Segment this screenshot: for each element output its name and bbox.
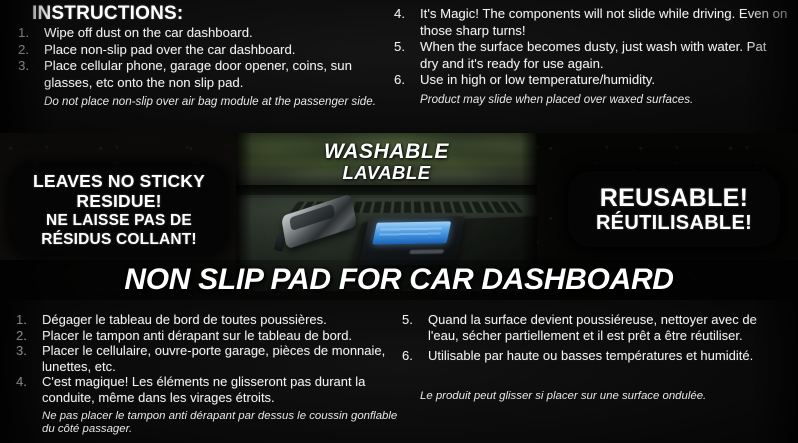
english-left-footnote: Do not place non-slip over air bag modul… xyxy=(14,95,392,109)
badge-left-line-4: RÉSIDUS COLLANT! xyxy=(41,230,197,249)
step-number: 2. xyxy=(16,328,38,344)
badge-left-line-3: NE LAISSE PAS DE xyxy=(46,211,192,230)
step-number: 1. xyxy=(16,312,38,328)
list-item: 3. Place cellular phone, garage door ope… xyxy=(14,58,392,91)
list-item: 4. It's Magic! The components will not s… xyxy=(390,6,788,39)
step-text: It's Magic! The components will not slid… xyxy=(420,6,787,38)
english-right-steps-list: 4. It's Magic! The components will not s… xyxy=(390,6,788,89)
step-number: 4. xyxy=(16,374,38,390)
list-item: 2. Placer le tampon anti dérapant sur le… xyxy=(12,328,398,344)
step-text: Place cellular phone, garage door opener… xyxy=(44,58,352,90)
washable-overlay-text: WASHABLE LAVABLE xyxy=(236,141,537,183)
step-text: C'est magique! Les éléments ne glisseron… xyxy=(42,374,365,405)
washable-label-en: WASHABLE xyxy=(236,141,537,163)
list-item: 6. Use in high or low temperature/humidi… xyxy=(390,72,788,89)
english-left-steps-list: 1. Wipe off dust on the car dashboard. 2… xyxy=(14,25,392,91)
washable-label-fr: LAVABLE xyxy=(236,163,537,183)
badge-left-line-1: LEAVES NO STICKY xyxy=(33,171,205,191)
list-item: 5. Quand la surface devient poussiéreuse… xyxy=(398,312,790,343)
step-text: Use in high or low temperature/humidity. xyxy=(420,72,655,87)
reusable-badge: REUSABLE! RÉUTILISABLE! xyxy=(568,171,780,247)
no-sticky-residue-badge: LEAVES NO STICKY RESIDUE! NE LAISSE PAS … xyxy=(11,166,227,254)
list-item: 4. C'est magique! Les éléments ne glisse… xyxy=(12,374,398,405)
list-item: 2. Place non-slip pad over the car dashb… xyxy=(14,42,392,59)
step-text: When the surface becomes dusty, just was… xyxy=(420,39,766,71)
english-right-column: 4. It's Magic! The components will not s… xyxy=(390,6,788,107)
step-text: Wipe off dust on the car dashboard. xyxy=(44,25,253,40)
step-number: 5. xyxy=(402,312,424,328)
list-item: 1. Dégager le tableau de bord de toutes … xyxy=(12,312,398,328)
french-right-footnote: Le produit peut glisser si placer sur un… xyxy=(398,390,790,404)
list-item: 3. Placer le cellulaire, ouvre-porte gar… xyxy=(12,343,398,374)
french-right-column: 5. Quand la surface devient poussiéreuse… xyxy=(398,312,790,403)
list-item: 5. When the surface becomes dusty, just … xyxy=(390,39,788,72)
english-instructions-section: INSTRUCTIONS: 1. Wipe off dust on the ca… xyxy=(0,0,798,133)
step-number: 6. xyxy=(394,72,416,89)
step-number: 3. xyxy=(18,58,40,75)
step-text: Quand la surface devient poussiéreuse, n… xyxy=(428,312,757,343)
step-text: Utilisable par haute ou basses températu… xyxy=(428,348,753,363)
step-text: Place non-slip pad over the car dashboar… xyxy=(44,42,295,57)
english-right-footnote: Product may slide when placed over waxed… xyxy=(390,93,788,107)
step-number: 2. xyxy=(18,42,40,59)
badge-left-line-2: RESIDUE! xyxy=(76,191,161,211)
step-number: 1. xyxy=(18,25,40,42)
french-left-column: 1. Dégager le tableau de bord de toutes … xyxy=(12,312,398,437)
badge-right-line-2: RÉUTILISABLE! xyxy=(596,212,752,235)
step-number: 4. xyxy=(394,6,416,23)
badge-right-line-1: REUSABLE! xyxy=(600,184,749,212)
product-packaging-panel: INSTRUCTIONS: 1. Wipe off dust on the ca… xyxy=(0,0,798,443)
french-left-footnote: Ne pas placer le tampon anti dérapant pa… xyxy=(12,410,398,437)
french-right-steps-list: 5. Quand la surface devient poussiéreuse… xyxy=(398,312,790,364)
step-number: 3. xyxy=(16,343,38,359)
english-left-column: INSTRUCTIONS: 1. Wipe off dust on the ca… xyxy=(14,4,392,109)
step-text: Dégager le tableau de bord de toutes pou… xyxy=(42,312,327,327)
step-text: Placer le tampon anti dérapant sur le ta… xyxy=(42,328,352,343)
step-number: 5. xyxy=(394,39,416,56)
list-item: 6. Utilisable par haute ou basses tempér… xyxy=(398,348,790,364)
french-left-steps-list: 1. Dégager le tableau de bord de toutes … xyxy=(12,312,398,406)
product-title-bar: NON SLIP PAD FOR CAR DASHBOARD xyxy=(0,260,798,300)
page-title: NON SLIP PAD FOR CAR DASHBOARD xyxy=(124,263,673,297)
list-item: 1. Wipe off dust on the car dashboard. xyxy=(14,25,392,42)
step-number: 6. xyxy=(402,348,424,364)
french-instructions-section: 1. Dégager le tableau de bord de toutes … xyxy=(0,300,798,443)
step-text: Placer le cellulaire, ouvre-porte garage… xyxy=(42,343,385,374)
instructions-heading: INSTRUCTIONS: xyxy=(32,4,392,24)
